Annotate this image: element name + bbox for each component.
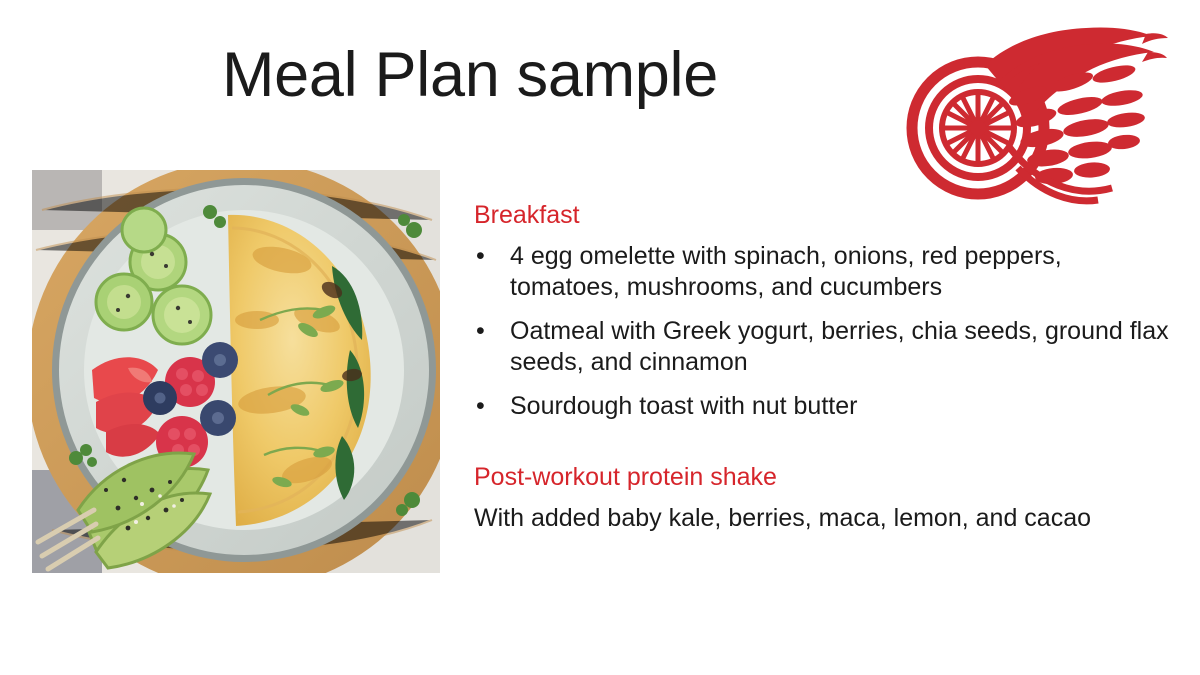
list-item-text: 4 egg omelette with spinach, onions, red… <box>510 242 1062 301</box>
section-post-workout: Post-workout protein shake With added ba… <box>474 462 1174 535</box>
bullet-icon: • <box>476 241 485 272</box>
list-item: • Oatmeal with Greek yogurt, berries, ch… <box>474 316 1174 377</box>
bullet-icon: • <box>476 391 485 422</box>
bullet-icon: • <box>476 316 485 347</box>
section-heading-breakfast: Breakfast <box>474 200 1174 231</box>
meal-plan-content: Breakfast • 4 egg omelette with spinach,… <box>474 200 1174 534</box>
section-spacer <box>474 422 1174 462</box>
slide: Meal Plan sample <box>0 0 1200 675</box>
list-item-text: Oatmeal with Greek yogurt, berries, chia… <box>510 317 1169 376</box>
breakfast-bullet-list: • 4 egg omelette with spinach, onions, r… <box>474 241 1174 422</box>
list-item-text: Sourdough toast with nut butter <box>510 392 857 420</box>
section-breakfast: Breakfast • 4 egg omelette with spinach,… <box>474 200 1174 422</box>
post-workout-body-text: With added baby kale, berries, maca, lem… <box>474 503 1174 534</box>
page-title: Meal Plan sample <box>222 40 922 111</box>
winged-wheel-logo <box>890 8 1170 208</box>
list-item: • 4 egg omelette with spinach, onions, r… <box>474 241 1174 302</box>
list-item: • Sourdough toast with nut butter <box>474 391 1174 422</box>
meal-photo <box>32 170 440 573</box>
section-heading-post-workout: Post-workout protein shake <box>474 462 1174 493</box>
